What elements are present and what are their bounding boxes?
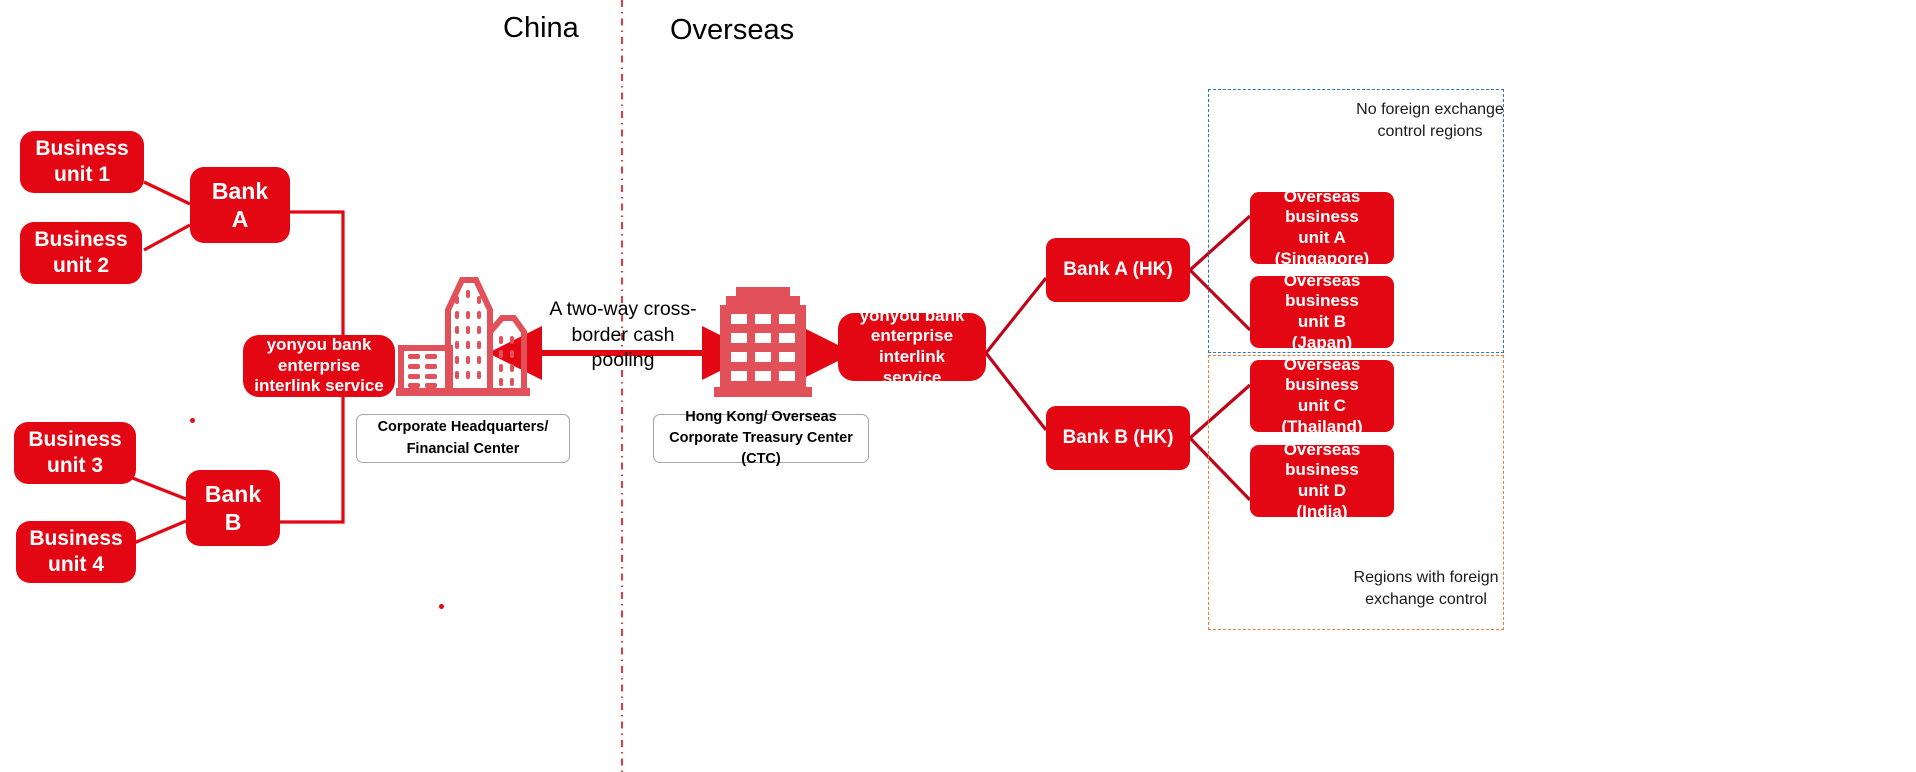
bank-a[interactable]: Bank A bbox=[190, 167, 290, 243]
hk-ctc-caption: Hong Kong/ Overseas Corporate Treasury C… bbox=[653, 414, 869, 463]
office-building-icon bbox=[714, 287, 812, 402]
china-interlink-service-box[interactable]: yonyou bank enterprise interlink service bbox=[243, 335, 395, 397]
bankBhk-to-service-line bbox=[986, 353, 1046, 430]
business-unit-1[interactable]: Business unit 1 bbox=[20, 131, 144, 193]
business-unit-2[interactable]: Business unit 2 bbox=[20, 222, 142, 284]
no-fx-control-note: No foreign exchange control regions bbox=[1340, 99, 1520, 142]
city-buildings-icon bbox=[396, 270, 530, 403]
overseas-business-unit-d[interactable]: Overseas business unit D (India) bbox=[1250, 445, 1394, 517]
overseas-business-unit-a[interactable]: Overseas business unit A (Singapore) bbox=[1250, 192, 1394, 264]
diagram-canvas: China Overseas No foreign exchange contr… bbox=[0, 0, 1916, 772]
bank-b-hk[interactable]: Bank B (HK) bbox=[1046, 406, 1190, 470]
overseas-business-unit-c[interactable]: Overseas business unit C (Thailand) bbox=[1250, 360, 1394, 432]
fx-control-note: Regions with foreign exchange control bbox=[1336, 567, 1516, 610]
bankAhk-to-service-line bbox=[986, 278, 1046, 353]
overseas-interlink-service-box[interactable]: yonyou bank enterprise interlink service bbox=[838, 313, 986, 381]
decorative-dot bbox=[439, 604, 444, 609]
region-title-china: China bbox=[503, 12, 579, 45]
business-unit-4[interactable]: Business unit 4 bbox=[16, 521, 136, 583]
overseas-business-unit-b[interactable]: Overseas business unit B (Japan) bbox=[1250, 276, 1394, 348]
corporate-hq-caption: Corporate Headquarters/ Financial Center bbox=[356, 414, 570, 463]
bu3-to-bankB-line bbox=[130, 477, 186, 499]
decorative-dot bbox=[190, 418, 195, 423]
cross-border-cash-pooling-label: A two-way cross- border cash pooling bbox=[538, 297, 708, 374]
business-unit-3[interactable]: Business unit 3 bbox=[14, 422, 136, 484]
bu1-to-bankA-line bbox=[144, 182, 190, 204]
region-title-overseas: Overseas bbox=[670, 14, 794, 47]
bu4-to-bankB-line bbox=[134, 521, 186, 543]
bu2-to-bankA-line bbox=[144, 225, 190, 250]
bank-a-hk[interactable]: Bank A (HK) bbox=[1046, 238, 1190, 302]
bank-b[interactable]: Bank B bbox=[186, 470, 280, 546]
